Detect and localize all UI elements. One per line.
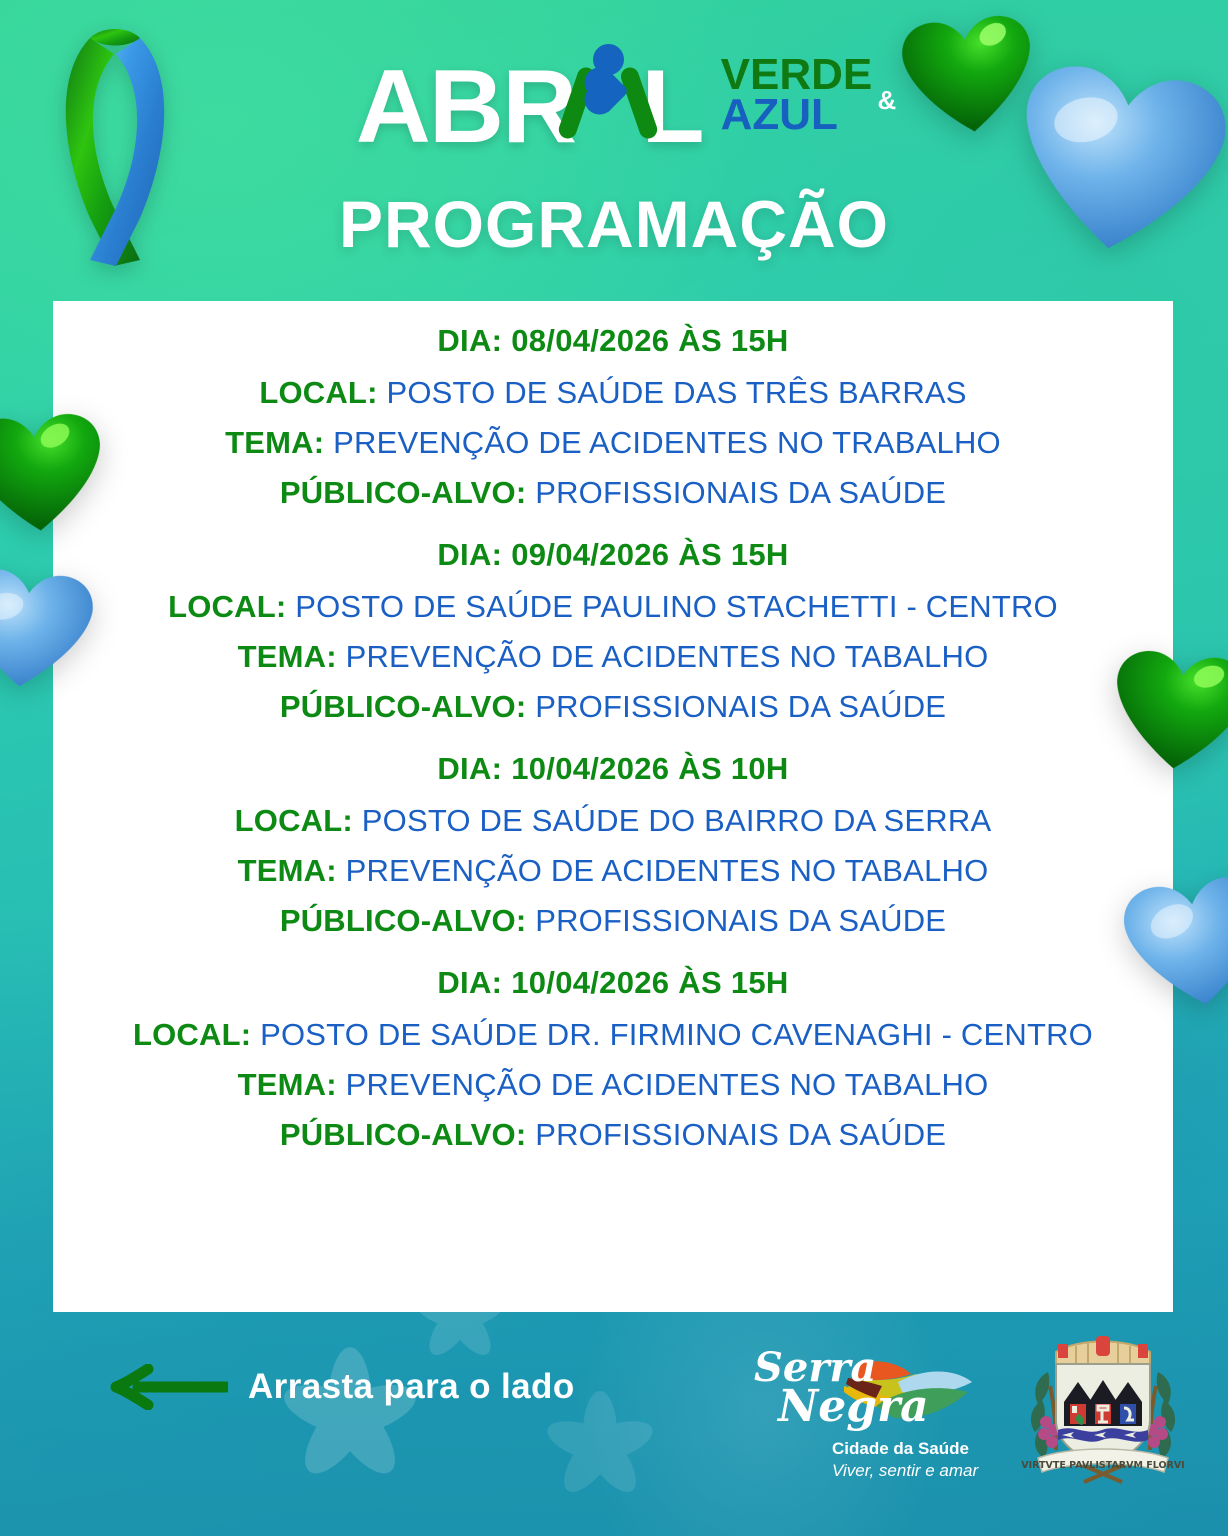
event-tema-label: TEMA: [225, 425, 324, 460]
event-local-line: LOCAL: POSTO DE SAÚDE PAULINO STACHETTI … [83, 589, 1143, 625]
swipe-text: Arrasta para o lado [248, 1367, 575, 1407]
event-tema-label: TEMA: [238, 1067, 337, 1102]
event-tema-value: PREVENÇÃO DE ACIDENTES NO TABALHO [346, 639, 989, 674]
heart-mid-right-blue-icon [1119, 871, 1228, 1021]
serra-name-line2: Negra [778, 1387, 929, 1427]
serra-negra-logo: Serra Negra Cidade da Saúde Viver, senti… [748, 1334, 988, 1484]
event-publico-value: PROFISSIONAIS DA SAÚDE [535, 475, 946, 510]
event-local-label: LOCAL: [259, 375, 377, 410]
azul-text: AZUL [721, 90, 838, 139]
event-publico-line: PÚBLICO-ALVO: PROFISSIONAIS DA SAÚDE [83, 903, 1143, 939]
event-block: DIA: 09/04/2026 ÀS 15H LOCAL: POSTO DE S… [83, 537, 1143, 725]
event-local-line: LOCAL: POSTO DE SAÚDE DR. FIRMINO CAVENA… [83, 1017, 1143, 1053]
event-publico-label: PÚBLICO-ALVO: [280, 903, 527, 938]
heart-top-right-blue-icon [1008, 59, 1228, 271]
verde-azul-lockup: VERDE AZUL & [721, 55, 873, 136]
heart-mid-right-green-icon [1108, 646, 1228, 783]
event-tema-value: PREVENÇÃO DE ACIDENTES NO TABALHO [346, 1067, 989, 1102]
event-day-line: DIA: 09/04/2026 ÀS 15H [83, 537, 1143, 573]
awareness-ribbon-icon [28, 8, 203, 288]
event-block: DIA: 10/04/2026 ÀS 10H LOCAL: POSTO DE S… [83, 751, 1143, 939]
event-tema-line: TEMA: PREVENÇÃO DE ACIDENTES NO TABALHO [83, 853, 1143, 889]
event-block: DIA: 08/04/2026 ÀS 15H LOCAL: POSTO DE S… [83, 323, 1143, 511]
coat-motto-text: VIRTVTE PAVLISTARVM FLORVI [1021, 1460, 1184, 1471]
event-publico-line: PÚBLICO-ALVO: PROFISSIONAIS DA SAÚDE [83, 1117, 1143, 1153]
event-publico-label: PÚBLICO-ALVO: [280, 1117, 527, 1152]
heart-mid-left-green-icon [0, 410, 106, 543]
swipe-hint[interactable]: Arrasta para o lado [108, 1364, 575, 1410]
verde-text: VERDE [721, 55, 873, 95]
azul-text-wrap: AZUL & [721, 95, 873, 135]
event-day-line: DIA: 10/04/2026 ÀS 10H [83, 751, 1143, 787]
event-publico-value: PROFISSIONAIS DA SAÚDE [535, 903, 946, 938]
event-tema-line: TEMA: PREVENÇÃO DE ACIDENTES NO TRABALHO [83, 425, 1143, 461]
serra-tagline-line2: Viver, sentir e amar [832, 1460, 978, 1482]
event-tema-label: TEMA: [238, 639, 337, 674]
event-tema-value: PREVENÇÃO DE ACIDENTES NO TRABALHO [333, 425, 1001, 460]
poster-root: ABR L VERDE AZUL & PROGRAMAÇÃO [0, 0, 1228, 1536]
heart-top-right-green-icon [899, 12, 1039, 145]
event-local-label: LOCAL: [133, 1017, 251, 1052]
schedule-card: DIA: 08/04/2026 ÀS 15H LOCAL: POSTO DE S… [53, 301, 1173, 1312]
event-publico-label: PÚBLICO-ALVO: [280, 475, 527, 510]
coat-of-arms-icon: VIRTVTE PAVLISTARVM FLORVI [1018, 1326, 1188, 1486]
event-day-line: DIA: 10/04/2026 ÀS 15H [83, 965, 1143, 1001]
event-local-label: LOCAL: [235, 803, 353, 838]
ampersand-symbol: & [877, 89, 896, 113]
serra-negra-wordmark: Serra Negra [754, 1350, 929, 1427]
event-publico-line: PÚBLICO-ALVO: PROFISSIONAIS DA SAÚDE [83, 689, 1143, 725]
event-local-value: POSTO DE SAÚDE DR. FIRMINO CAVENAGHI - C… [260, 1017, 1093, 1052]
abril-text-part1: ABR [356, 55, 575, 159]
arrow-left-icon [108, 1364, 228, 1410]
event-local-value: POSTO DE SAÚDE DAS TRÊS BARRAS [386, 375, 966, 410]
event-local-line: LOCAL: POSTO DE SAÚDE DAS TRÊS BARRAS [83, 375, 1143, 411]
person-heart-icon [571, 38, 645, 142]
event-local-value: POSTO DE SAÚDE DO BAIRRO DA SERRA [362, 803, 992, 838]
event-tema-line: TEMA: PREVENÇÃO DE ACIDENTES NO TABALHO [83, 1067, 1143, 1103]
event-publico-value: PROFISSIONAIS DA SAÚDE [535, 1117, 946, 1152]
abril-wordmark: ABR L [356, 38, 703, 159]
event-publico-value: PROFISSIONAIS DA SAÚDE [535, 689, 946, 724]
event-tema-line: TEMA: PREVENÇÃO DE ACIDENTES NO TABALHO [83, 639, 1143, 675]
serra-tagline-line1: Cidade da Saúde [832, 1438, 978, 1460]
footer: Arrasta para o lado Serra Negra Cidade d… [0, 1312, 1228, 1536]
event-local-line: LOCAL: POSTO DE SAÚDE DO BAIRRO DA SERRA [83, 803, 1143, 839]
event-tema-value: PREVENÇÃO DE ACIDENTES NO TABALHO [346, 853, 989, 888]
abril-text-part2: L [641, 55, 703, 159]
event-local-label: LOCAL: [168, 589, 286, 624]
event-publico-label: PÚBLICO-ALVO: [280, 689, 527, 724]
event-local-value: POSTO DE SAÚDE PAULINO STACHETTI - CENTR… [295, 589, 1058, 624]
event-day-line: DIA: 08/04/2026 ÀS 15H [83, 323, 1143, 359]
event-publico-line: PÚBLICO-ALVO: PROFISSIONAIS DA SAÚDE [83, 475, 1143, 511]
heart-mid-left-blue-icon [0, 564, 96, 701]
serra-negra-tagline: Cidade da Saúde Viver, sentir e amar [832, 1438, 978, 1482]
event-tema-label: TEMA: [238, 853, 337, 888]
event-block: DIA: 10/04/2026 ÀS 15H LOCAL: POSTO DE S… [83, 965, 1143, 1153]
